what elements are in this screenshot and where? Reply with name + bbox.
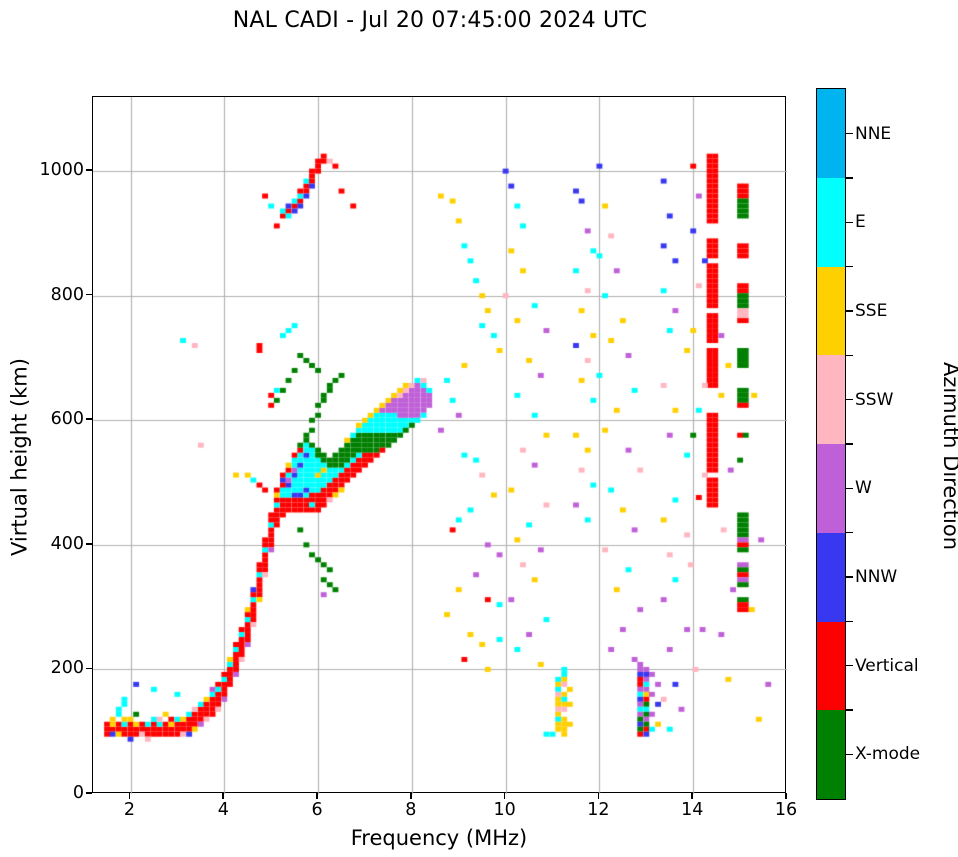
x-tick-mark xyxy=(598,793,600,799)
y-tick-mark xyxy=(86,294,92,296)
y-tick-label: 0 xyxy=(24,783,84,803)
y-tick-mark xyxy=(86,169,92,171)
colorbar-tick-mark xyxy=(846,310,853,311)
y-tick-mark xyxy=(86,418,92,420)
x-tick-mark xyxy=(785,793,787,799)
y-tick-label: 1000 xyxy=(24,160,84,180)
colorbar-label-nnw: NNW xyxy=(855,567,897,587)
colorbar-segment-vertical xyxy=(817,622,845,711)
colorbar-tick-mark xyxy=(846,222,853,223)
echo-scatter-layer xyxy=(93,97,787,794)
colorbar-boundary-tick xyxy=(846,621,853,622)
colorbar-boundary-tick xyxy=(846,709,853,710)
x-tick-label: 4 xyxy=(193,800,253,820)
x-tick-mark xyxy=(410,793,412,799)
x-tick-mark xyxy=(504,793,506,799)
azimuth-colorbar xyxy=(816,88,846,800)
colorbar-tick-mark xyxy=(846,488,853,489)
x-tick-label: 16 xyxy=(756,800,816,820)
plot-area xyxy=(92,96,786,793)
colorbar-label-e: E xyxy=(855,212,866,232)
colorbar-segment-ssw xyxy=(817,355,845,444)
colorbar-segment-w xyxy=(817,444,845,533)
y-tick-label: 400 xyxy=(24,534,84,554)
x-tick-mark xyxy=(222,793,224,799)
y-tick-label: 200 xyxy=(24,658,84,678)
colorbar-tick-mark xyxy=(846,754,853,755)
colorbar-label-vertical: Vertical xyxy=(855,656,919,676)
colorbar-segment-sse xyxy=(817,267,845,356)
colorbar-tick-marks xyxy=(846,88,854,800)
colorbar-boundary-tick xyxy=(846,443,853,444)
colorbar-tick-mark xyxy=(846,133,853,134)
colorbar-segment-x-mode xyxy=(817,710,845,799)
x-tick-label: 8 xyxy=(381,800,441,820)
colorbar-segment-e xyxy=(817,178,845,267)
y-tick-mark xyxy=(86,543,92,545)
x-tick-mark xyxy=(316,793,318,799)
x-tick-mark xyxy=(129,793,131,799)
page-title: NAL CADI - Jul 20 07:45:00 2024 UTC xyxy=(0,8,880,33)
colorbar-tick-mark xyxy=(846,576,853,577)
x-tick-marks xyxy=(92,793,786,800)
y-tick-label: 800 xyxy=(24,285,84,305)
colorbar-label-sse: SSE xyxy=(855,301,887,321)
colorbar-tick-mark xyxy=(846,399,853,400)
colorbar-label-w: W xyxy=(855,478,872,498)
y-axis-label: Virtual height (km) xyxy=(8,109,32,806)
x-axis-label: Frequency (MHz) xyxy=(92,826,786,850)
colorbar-tick-mark xyxy=(846,665,853,666)
colorbar-segment-nne xyxy=(817,89,845,178)
ionogram-figure: NAL CADI - Jul 20 07:45:00 2024 UTC 0200… xyxy=(0,0,958,857)
y-tick-marks xyxy=(86,96,92,793)
colorbar-label-ssw: SSW xyxy=(855,390,893,410)
y-tick-mark xyxy=(86,668,92,670)
x-tick-label: 2 xyxy=(100,800,160,820)
colorbar-boundary-tick xyxy=(846,532,853,533)
x-tick-label: 14 xyxy=(662,800,722,820)
x-tick-label: 6 xyxy=(287,800,347,820)
colorbar-label-nne: NNE xyxy=(855,124,891,144)
colorbar-boundary-tick xyxy=(846,177,853,178)
x-tick-mark xyxy=(691,793,693,799)
colorbar-boundary-tick xyxy=(846,355,853,356)
x-tick-label: 12 xyxy=(568,800,628,820)
y-tick-label: 600 xyxy=(24,409,84,429)
colorbar-boundary-tick xyxy=(846,266,853,267)
colorbar-segment-nnw xyxy=(817,533,845,622)
colorbar-label-x-mode: X-mode xyxy=(855,744,920,764)
colorbar-title: Azimuth Direction xyxy=(939,100,958,812)
x-tick-label: 10 xyxy=(475,800,535,820)
